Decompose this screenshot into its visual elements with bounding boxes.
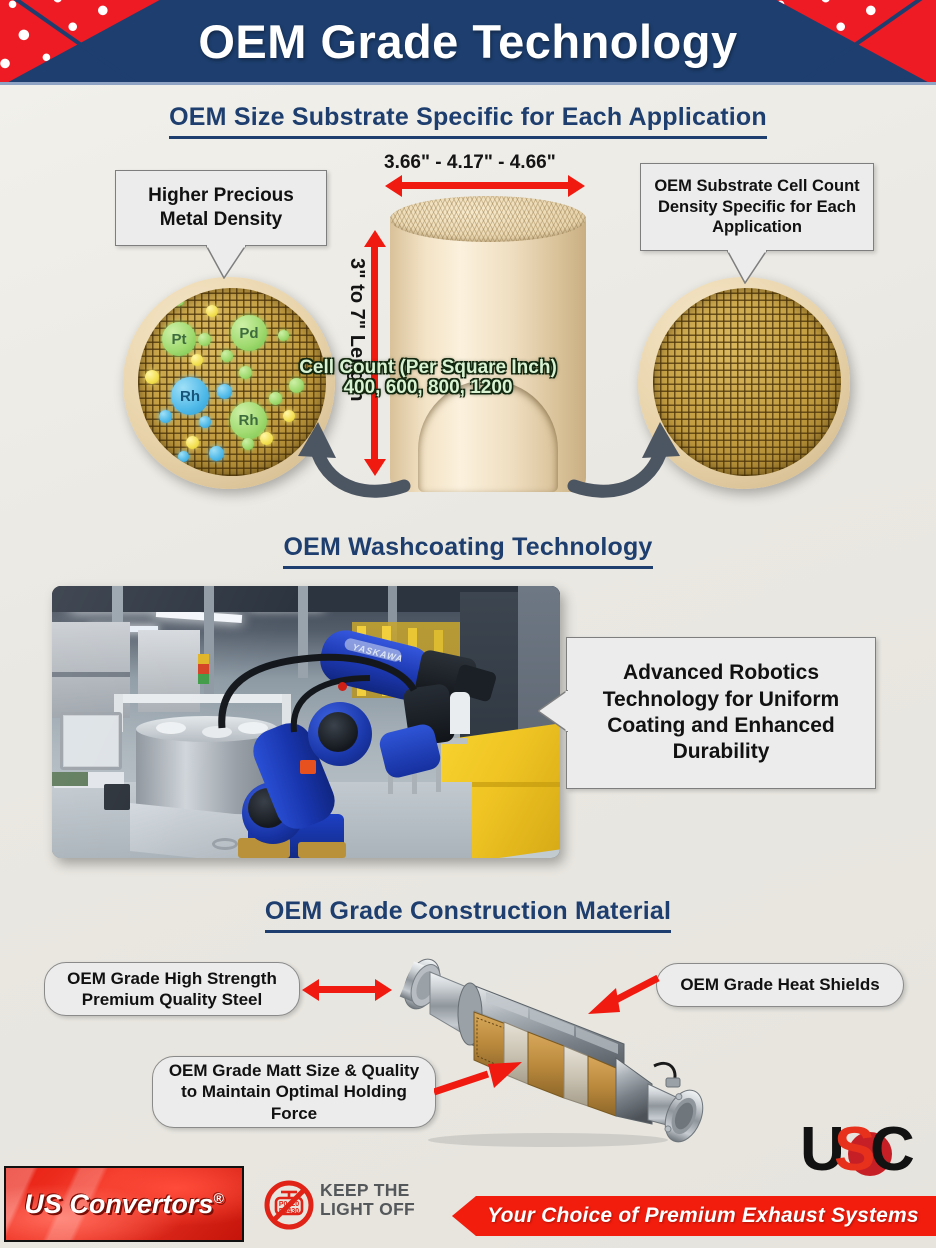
- callout-heat-shields: OEM Grade Heat Shields: [656, 963, 904, 1007]
- registered-mark: ®: [213, 1190, 223, 1206]
- page-title: OEM Grade Technology: [0, 0, 936, 82]
- substrate-cylinder-top-honeycomb: [390, 196, 586, 242]
- us-convertors-brand-text: US Convertors: [24, 1189, 213, 1219]
- robotics-factory-photo: YASKAWA: [52, 586, 560, 858]
- particle-dot: [186, 436, 199, 449]
- section-title-substrate-text: OEM Size Substrate Specific for Each App…: [169, 103, 767, 139]
- section-title-material-text: OEM Grade Construction Material: [265, 897, 671, 933]
- curved-arrow-to-right-disc: [566, 398, 686, 498]
- particle-dot: [278, 330, 289, 341]
- precious-metal-bubble-pt: Pt: [162, 322, 196, 356]
- particle-dot: [209, 446, 224, 461]
- callout-high-strength-steel: OEM Grade High Strength Premium Quality …: [44, 962, 300, 1016]
- particle-dot: [242, 438, 254, 450]
- dimension-diameter-arrow: [401, 182, 569, 189]
- substrate-cylinder: [390, 196, 586, 492]
- particle-dot: [198, 333, 211, 346]
- callout-advanced-robotics-text: Advanced Robotics Technology for Uniform…: [579, 660, 863, 766]
- section-title-substrate: OEM Size Substrate Specific for Each App…: [0, 103, 936, 132]
- no-check-engine-light-icon: P0420 P0430: [264, 1180, 314, 1230]
- particle-dot: [199, 416, 211, 428]
- callout-tail-robotics: [538, 690, 568, 732]
- callout-matt-size-quality: OEM Grade Matt Size & Quality to Maintai…: [152, 1056, 436, 1128]
- particle-dot: [159, 410, 172, 423]
- section-title-material: OEM Grade Construction Material: [0, 897, 936, 926]
- tagline-banner: Your Choice of Premium Exhaust Systems: [452, 1196, 936, 1236]
- page-header: OEM Grade Technology: [0, 0, 936, 82]
- dimension-diameter-label: 3.66" - 4.17" - 4.66": [384, 152, 556, 174]
- callout-matt-size-quality-text: OEM Grade Matt Size & Quality to Maintai…: [163, 1060, 425, 1124]
- us-convertors-badge: US Convertors®: [4, 1166, 244, 1242]
- particle-dot: [206, 305, 218, 317]
- keep-light-line-1: KEEP THE: [320, 1181, 415, 1200]
- section-title-washcoating: OEM Washcoating Technology: [0, 533, 936, 562]
- curved-arrow-to-left-disc: [292, 398, 412, 498]
- particle-dot: [260, 432, 273, 445]
- callout-heat-shields-text: OEM Grade Heat Shields: [680, 974, 879, 995]
- cell-count-title: Cell Count (Per Square Inch): [0, 357, 896, 379]
- tagline-text: Your Choice of Premium Exhaust Systems: [469, 1204, 919, 1228]
- keep-light-line-2: LIGHT OFF: [320, 1200, 415, 1219]
- section-title-washcoating-text: OEM Washcoating Technology: [283, 533, 652, 569]
- header-divider: [0, 82, 936, 85]
- callout-advanced-robotics: Advanced Robotics Technology for Uniform…: [566, 637, 876, 789]
- particle-dot: [174, 296, 184, 306]
- callout-tail-left: [206, 245, 246, 279]
- particle-dot: [178, 451, 189, 462]
- arrow-to-matt: [434, 1056, 524, 1098]
- callout-substrate-cell-count-density: OEM Substrate Cell Count Density Specifi…: [640, 163, 874, 251]
- cell-count-values: 400, 600, 800, 1200: [0, 377, 896, 399]
- keep-the-light-off-logo: P0420 P0430 KEEP THE LIGHT OFF: [264, 1180, 436, 1230]
- arrow-to-heat-shields: [586, 972, 662, 1016]
- callout-higher-precious-metal-density: Higher Precious Metal Density: [115, 170, 327, 246]
- infographic-page: OEM Grade Technology OEM Size Substrate …: [0, 0, 936, 1248]
- arrow-to-steel: [318, 986, 376, 993]
- callout-higher-precious-metal-density-text: Higher Precious Metal Density: [124, 184, 318, 232]
- keep-the-light-off-text: KEEP THE LIGHT OFF: [320, 1181, 415, 1218]
- callout-substrate-cell-count-density-text: OEM Substrate Cell Count Density Specifi…: [649, 176, 865, 238]
- callout-tail-right: [727, 250, 767, 284]
- precious-metal-bubble-pd: Pd: [231, 315, 267, 351]
- us-convertors-brand: US Convertors®: [24, 1189, 223, 1220]
- callout-high-strength-steel-text: OEM Grade High Strength Premium Quality …: [55, 968, 289, 1011]
